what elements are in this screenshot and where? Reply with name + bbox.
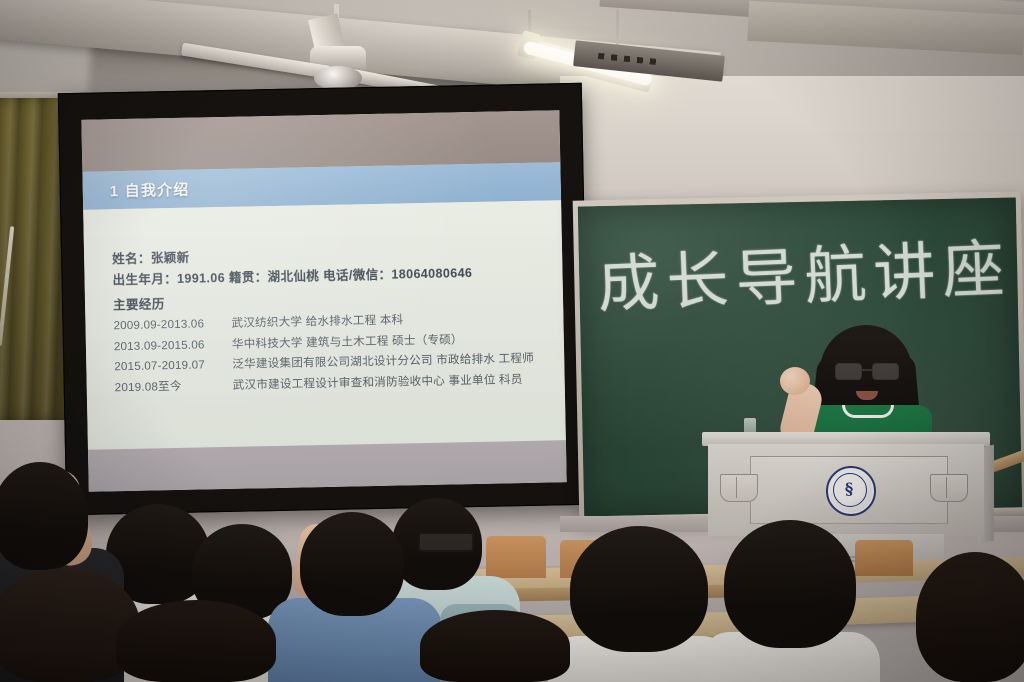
- chair-back: [855, 540, 913, 576]
- glasses-icon: [834, 363, 900, 378]
- student-glasses-icon: [418, 532, 474, 552]
- experience-date: 2013.09-2015.06: [114, 334, 232, 357]
- slide-experience-list: 2009.09-2013.06武汉纺织大学 给水排水工程 本科 2013.09-…: [113, 307, 565, 398]
- fan-blade-left: [181, 43, 331, 79]
- projector-screen: 1 自我介绍 姓名：张颖新 出生年月：1991.06 籍贯：湖北仙桃 电话/微信…: [58, 83, 590, 515]
- experience-detail: 武汉市建设工程设计审查和消防验收中心 事业单位 科员: [233, 373, 523, 392]
- emblem-mark: §: [841, 479, 857, 499]
- podium-decor-left: [720, 474, 758, 502]
- upper-wall-right: [560, 76, 1024, 196]
- student-head: [300, 512, 404, 616]
- glasses-lens-left: [835, 363, 862, 380]
- experience-detail: 泛华建设集团有限公司湖北设计分公司 市政给排水 工程师: [232, 352, 534, 371]
- glasses-bridge: [860, 369, 872, 371]
- experience-detail: 武汉纺织大学 给水排水工程 本科: [231, 313, 403, 329]
- chair-back: [486, 536, 546, 578]
- curtain-pull-cord: [0, 226, 14, 346]
- podium-decor-right: [930, 474, 968, 502]
- student-head: [0, 462, 88, 570]
- student-head: [420, 610, 570, 682]
- classroom-photo: 1 自我介绍 姓名：张颖新 出生年月：1991.06 籍贯：湖北仙桃 电话/微信…: [0, 0, 1024, 682]
- experience-date: 2015.07-2019.07: [114, 355, 232, 378]
- student-head: [116, 600, 276, 682]
- glasses-lens-right: [872, 363, 899, 380]
- student-head: [724, 520, 856, 648]
- slide-body: 姓名：张颖新 出生年月：1991.06 籍贯：湖北仙桃 电话/微信：180640…: [83, 200, 566, 450]
- slide-title: 1 自我介绍: [110, 178, 190, 201]
- student-head: [570, 526, 708, 652]
- slide-bottom-band: [88, 440, 567, 492]
- experience-detail: 华中科技大学 建筑与土木工程 硕士（专硕）: [232, 333, 463, 351]
- student-head: [916, 552, 1024, 682]
- presenter-hand: [780, 367, 810, 395]
- presenter-collar: [842, 405, 894, 418]
- presentation-slide: 1 自我介绍 姓名：张颖新 出生年月：1991.06 籍贯：湖北仙桃 电话/微信…: [81, 110, 566, 492]
- slide-top-band: [81, 110, 560, 172]
- experience-date: 2009.09-2013.06: [113, 314, 231, 337]
- experience-date: 2019.08至今: [115, 375, 233, 398]
